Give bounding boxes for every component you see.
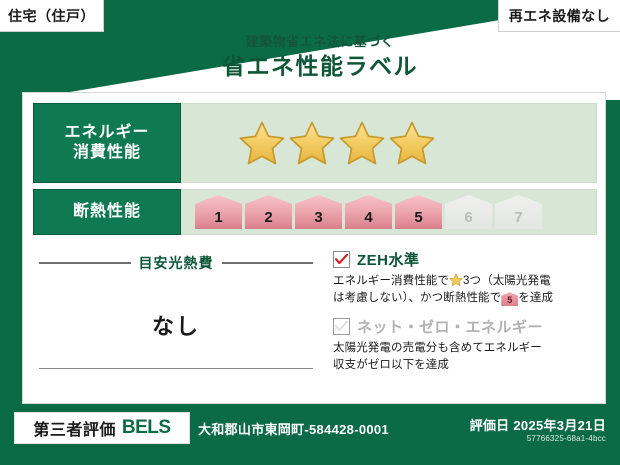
net-zero-heading: ネット・ゼロ・エネルギー [333,316,593,337]
heading-rule-right [222,262,314,264]
heading-rule-left [39,262,131,264]
insulation-level-4: 4 [345,195,392,229]
zeh-standard-block: ZEH水準 エネルギー消費性能で 3つ（太陽光発電 は考慮しない）、かつ断熱性能… [333,249,593,308]
star-rating [239,120,435,166]
insulation-label: 断熱性能 [73,202,141,222]
bels-japanese-label: 第三者評価 [33,416,116,440]
label-card: エネルギー 消費性能 断熱性能 1234567 目安光熱費 [22,92,606,404]
net-zero-title: ネット・ゼロ・エネルギー [357,316,543,337]
utility-cost-value: なし [39,309,313,341]
zeh-standard-heading: ZEH水準 [333,249,593,270]
lower-section: 目安光熱費 なし ZEH水準 [33,243,597,395]
energy-label-line2: 消費性能 [73,143,141,163]
zeh-standard-description: エネルギー消費性能で 3つ（太陽光発電 は考慮しない）、かつ断熱性能で5を達成 [333,273,593,308]
zeh-desc-part2: 3つ（太陽光発電 [463,275,551,287]
evaluation-id: 57766325-68a1-4bcc [527,434,606,443]
row-insulation-performance: 断熱性能 1234567 [33,189,597,235]
net-zero-energy-block: ネット・ゼロ・エネルギー 太陽光発電の売電分も含めてエネルギー 収支がゼロ以下を… [333,316,593,375]
badge-dwelling-type: 住宅（住戸） [0,0,104,32]
property-address: 大和郡山市東岡町-584428-0001 [198,419,389,438]
zeh-standard-checkbox[interactable] [333,251,350,268]
inline-insulation-badge: 5 [501,292,518,306]
energy-performance-label: 住宅（住戸） 再エネ設備なし 建築物省エネ法に基づく 省エネ性能ラベル エネルギ… [0,0,620,465]
insulation-level-5: 5 [395,195,442,229]
zeh-desc-part1: エネルギー消費性能で [333,275,449,287]
zeh-section: ZEH水準 エネルギー消費性能で 3つ（太陽光発電 は考慮しない）、かつ断熱性能… [325,243,597,395]
inline-star-icon [449,273,463,287]
insulation-level-scale: 1234567 [195,195,542,229]
utility-cost-heading: 目安光熱費 [39,253,313,273]
utility-cost-section: 目安光熱費 なし [33,243,325,395]
star-icon [239,120,285,166]
badge-renewable-equipment: 再エネ設備なし [498,0,620,32]
star-icon [389,120,435,166]
insulation-level-2: 2 [245,195,292,229]
star-icon [289,120,335,166]
footer: 第三者評価 BELS 大和郡山市東岡町-584428-0001 評価日 2025… [0,404,620,465]
zeh-desc-part3: は考慮しない）、かつ断熱性能で [333,292,501,304]
insulation-level-6: 6 [445,195,492,229]
title-block: 建築物省エネ法に基づく 省エネ性能ラベル [130,34,510,80]
zeh-standard-title: ZEH水準 [357,249,420,270]
net-zero-desc-line1: 太陽光発電の売電分も含めてエネルギー [333,342,542,354]
bels-badge: 第三者評価 BELS [14,412,190,444]
insulation-level-3: 3 [295,195,342,229]
utility-cost-bottom-rule [39,368,313,370]
badge-dwelling-label: 住宅（住戸） [8,6,95,26]
evaluation-date: 評価日 2025年3月21日 [470,415,606,434]
utility-cost-heading-label: 目安光熱費 [139,253,214,273]
energy-performance-value-area [181,103,597,183]
star-icon [339,120,385,166]
energy-label-line1: エネルギー [64,123,149,143]
energy-performance-label-box: エネルギー 消費性能 [33,103,181,183]
row-energy-performance: エネルギー 消費性能 [33,103,597,183]
insulation-level-1: 1 [195,195,242,229]
title-subtitle: 建築物省エネ法に基づく [130,34,510,50]
insulation-performance-label-box: 断熱性能 [33,189,181,235]
net-zero-description: 太陽光発電の売電分も含めてエネルギー 収支がゼロ以下を達成 [333,340,593,375]
bels-logo: BELS [122,417,171,439]
page-title: 省エネ性能ラベル [130,52,510,81]
badge-renewable-label: 再エネ設備なし [509,6,611,26]
zeh-desc-part4: を達成 [518,292,553,304]
net-zero-desc-line2: 収支がゼロ以下を達成 [333,359,449,371]
insulation-performance-value-area: 1234567 [181,189,597,235]
insulation-level-7: 7 [495,195,542,229]
net-zero-checkbox[interactable] [333,318,350,335]
